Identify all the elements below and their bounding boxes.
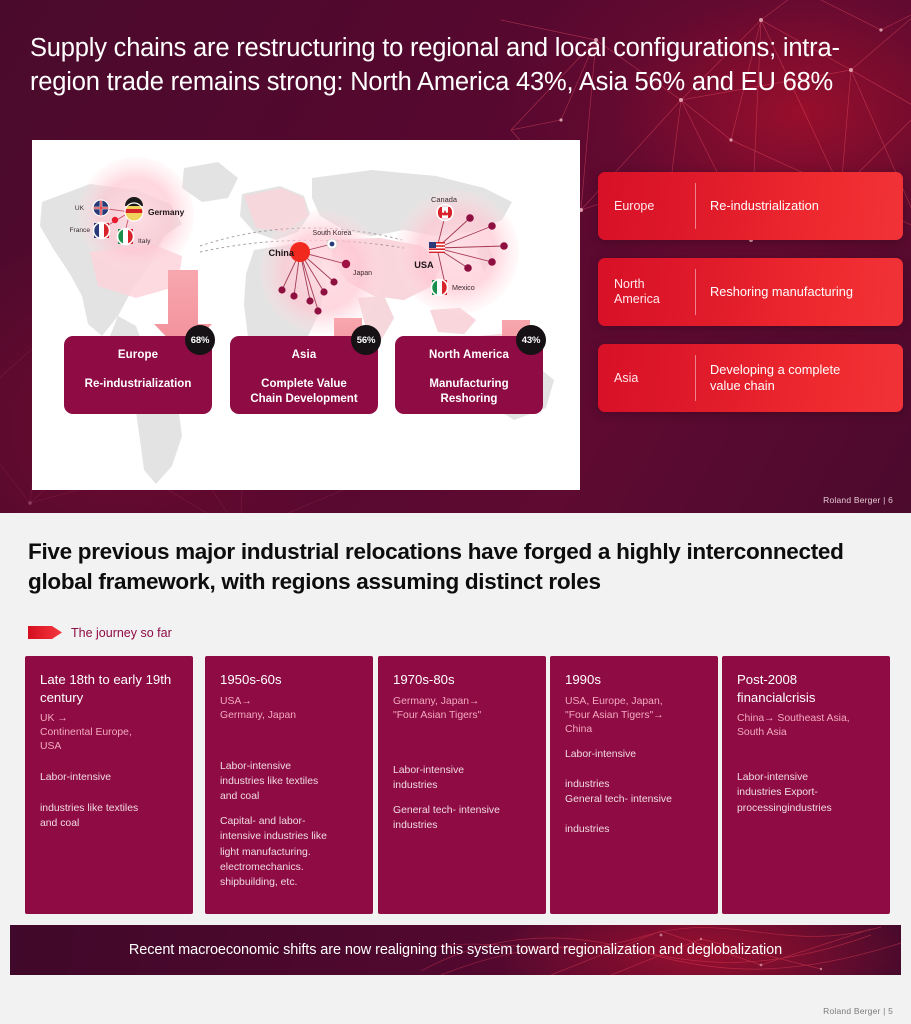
strategy-panel-text: Re-industrialization — [696, 198, 903, 214]
map-label-south-korea: South Korea — [313, 230, 352, 237]
north-america-bubble — [395, 190, 519, 314]
italy-flag — [118, 229, 134, 245]
map-label-canada: Canada — [431, 195, 458, 204]
map-label-germany: Germany — [148, 207, 185, 217]
strategy-panel-region: North America — [598, 277, 695, 307]
pct-badge-north-america: 43% — [516, 325, 546, 355]
timeline-card[interactable]: Late 18th to early 19th century UK → Con… — [25, 656, 193, 914]
region-box-desc: Complete Value Chain Development — [250, 377, 357, 406]
pct-badge-value: 56% — [357, 335, 375, 346]
card-body: Labor-intensive industries General tech-… — [393, 763, 533, 834]
pct-badge-value: 43% — [522, 335, 540, 346]
bottom-banner: Recent macroeconomic shifts are now real… — [10, 925, 901, 975]
world-map-card: UK France Germany Italy — [32, 140, 580, 490]
strategy-panel-europe[interactable]: Europe Re-industrialization — [598, 172, 903, 240]
map-label-japan: Japan — [353, 270, 372, 277]
slide-supply-chains: Supply chains are restructuring to regio… — [0, 0, 911, 513]
card-body: Labor-intensive industries General tech-… — [565, 747, 705, 838]
card-flow: UK → Continental Europe, USA — [40, 712, 180, 754]
mexico-flag — [432, 280, 448, 296]
card-era: Post-2008 financialcrisis — [737, 671, 877, 706]
region-box-name: North America — [429, 349, 509, 361]
pct-badge-europe: 68% — [185, 325, 215, 355]
region-box-name: Europe — [118, 349, 158, 361]
strategy-panel-text: Reshoring manufacturing — [696, 284, 903, 300]
banner-text: Recent macroeconomic shifts are now real… — [129, 942, 782, 958]
card-body: Labor-intensive industries Export- proce… — [737, 770, 877, 816]
region-box-desc: Manufacturing Reshoring — [429, 377, 508, 406]
card-item: Labor-intensive industries — [393, 763, 533, 793]
pct-badge-value: 68% — [191, 335, 209, 346]
region-box-name: Asia — [292, 349, 317, 361]
card-item: Labor-intensive industries General tech-… — [565, 747, 705, 838]
card-flow: China→ Southeast Asia, South Asia — [737, 712, 877, 740]
card-era: 1970s-80s — [393, 671, 533, 689]
strategy-panel-asia[interactable]: Asia Developing a complete value chain — [598, 344, 903, 412]
card-era: Late 18th to early 19th century — [40, 671, 180, 706]
card-body: Labor-intensive industries like textiles… — [220, 759, 360, 891]
map-label-mexico: Mexico — [452, 283, 475, 292]
card-body: Labor-intensive industries like textiles… — [40, 770, 180, 831]
map-label-china: China — [268, 248, 294, 258]
slide2-footer: Roland Berger | 5 — [823, 1006, 893, 1016]
region-box-desc: Re-industrialization — [85, 377, 192, 392]
map-label-uk: UK — [75, 205, 85, 212]
card-era: 1990s — [565, 671, 705, 689]
card-item: Labor-intensive industries Export- proce… — [737, 770, 877, 816]
pct-badge-asia: 56% — [351, 325, 381, 355]
card-flow: Germany, Japan→ "Four Asian Tigers" — [393, 695, 533, 723]
card-item: General tech- intensive industries — [393, 803, 533, 833]
timeline-card[interactable]: Post-2008 financialcrisis China→ Southea… — [722, 656, 890, 914]
strategy-panel-north-america[interactable]: North America Reshoring manufacturing — [598, 258, 903, 326]
timeline-card[interactable]: 1990s USA, Europe, Japan, "Four Asian Ti… — [550, 656, 718, 914]
france-flag — [94, 223, 110, 239]
card-flow: USA→ Germany, Japan — [220, 695, 360, 723]
timeline-card[interactable]: 1950s-60s USA→ Germany, Japan Labor-inte… — [205, 656, 373, 914]
slide1-title: Supply chains are restructuring to regio… — [30, 32, 886, 99]
card-item: Labor-intensive industries like textiles… — [220, 759, 360, 805]
strategy-panel-region: Europe — [598, 199, 695, 214]
map-label-usa: USA — [414, 260, 434, 270]
timeline-card[interactable]: 1970s-80s Germany, Japan→ "Four Asian Ti… — [378, 656, 546, 914]
slide-industrial-relocations: Five previous major industrial relocatio… — [0, 513, 911, 1024]
card-flow: USA, Europe, Japan, "Four Asian Tigers"→… — [565, 695, 705, 737]
strategy-panel-region: Asia — [598, 371, 695, 386]
card-era: 1950s-60s — [220, 671, 360, 689]
slide-deck: Supply chains are restructuring to regio… — [0, 0, 911, 1024]
map-label-france: France — [69, 227, 90, 234]
world-map-graphic: UK France Germany Italy — [32, 140, 580, 490]
usa-flag — [429, 242, 445, 253]
map-label-italy: Italy — [138, 238, 151, 245]
strategy-panel-text: Developing a complete value chain — [696, 362, 903, 394]
card-item: Capital- and labor- intensive industries… — [220, 814, 360, 890]
slide1-footer: Roland Berger | 6 — [823, 495, 893, 505]
card-item: Labor-intensive industries like textiles… — [40, 770, 180, 831]
